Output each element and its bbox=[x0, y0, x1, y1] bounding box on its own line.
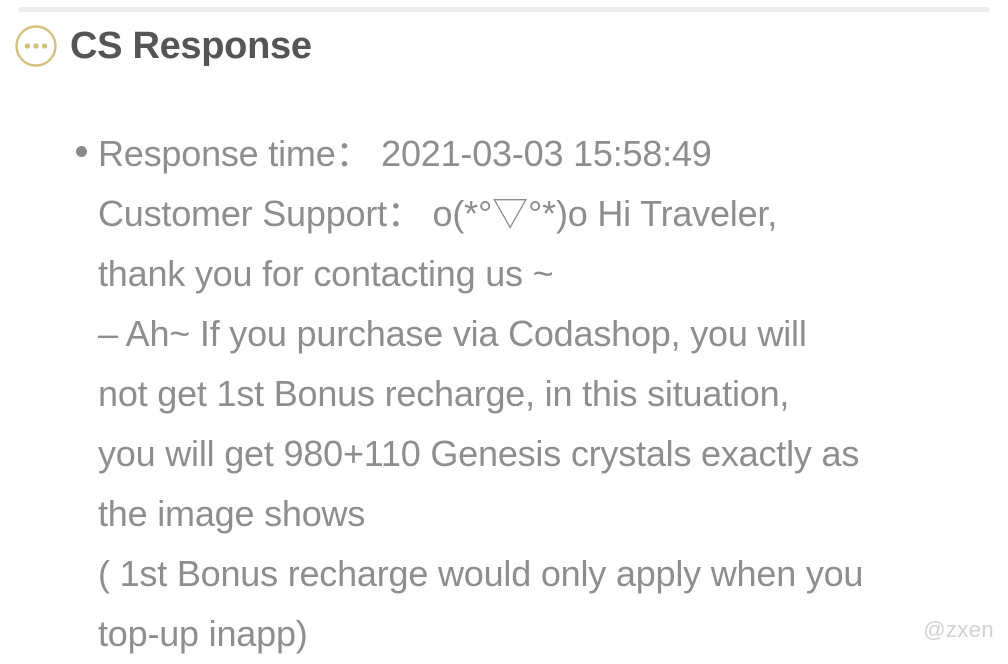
top-divider bbox=[18, 7, 990, 12]
ellipsis-circle-icon bbox=[14, 24, 58, 68]
response-line: not get 1st Bonus recharge, in this situ… bbox=[98, 364, 990, 424]
response-text: Response time： 2021-03-03 15:58:49 Custo… bbox=[98, 124, 990, 664]
response-line: thank you for contacting us ~ bbox=[98, 244, 990, 304]
response-line: ( 1st Bonus recharge would only apply wh… bbox=[98, 544, 990, 604]
response-line: top-up inapp) bbox=[98, 604, 990, 664]
list-item: Response time： 2021-03-03 15:58:49 Custo… bbox=[70, 124, 990, 664]
watermark: @zxen bbox=[923, 617, 994, 643]
response-line: – Ah~ If you purchase via Codashop, you … bbox=[98, 304, 990, 364]
bullet-icon bbox=[76, 146, 87, 157]
response-line: Customer Support： o(*°▽°*)o Hi Traveler, bbox=[98, 184, 990, 244]
response-body: Response time： 2021-03-03 15:58:49 Custo… bbox=[70, 124, 990, 664]
response-line: Response time： 2021-03-03 15:58:49 bbox=[98, 124, 990, 184]
page-header: CS Response bbox=[14, 24, 312, 68]
response-line: you will get 980+110 Genesis crystals ex… bbox=[98, 424, 990, 484]
response-line: the image shows bbox=[98, 484, 990, 544]
page-title: CS Response bbox=[70, 27, 312, 65]
cs-response-page: CS Response Response time： 2021-03-03 15… bbox=[0, 0, 1008, 663]
